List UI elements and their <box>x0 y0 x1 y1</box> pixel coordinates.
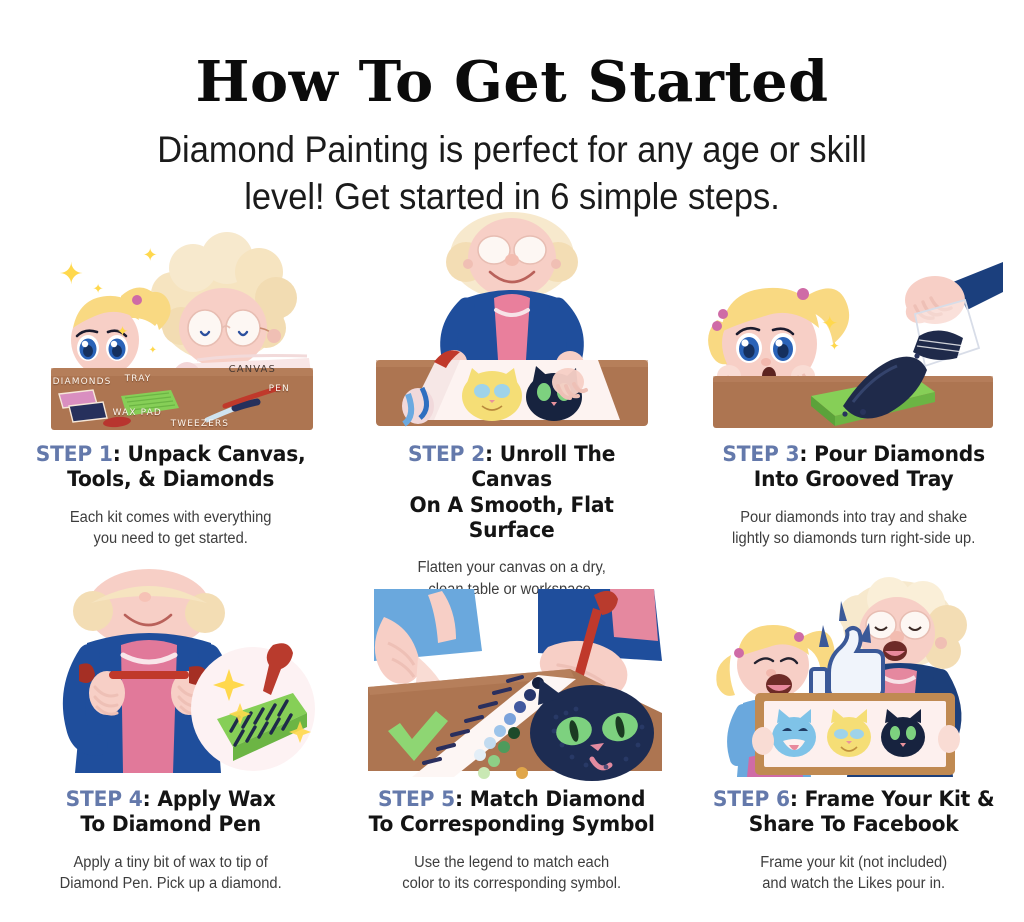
canvas-sheet <box>402 350 620 424</box>
page-subtitle: Diamond Painting is perfect for any age … <box>36 126 988 221</box>
step-2-title-rest: : Unroll The Canvas <box>472 442 616 492</box>
step-6-desc-line1: Frame your kit (not included) <box>760 854 947 871</box>
step-6-number: STEP 6 <box>713 787 790 812</box>
step-2-title-line2: On A Smooth, Flat Surface <box>410 493 614 543</box>
sparkle-icon: ✦ <box>829 340 839 352</box>
step-3-title-rest: : Pour Diamonds <box>799 442 985 467</box>
grandma-hand <box>938 725 960 753</box>
sparkle-icon: ✦ <box>59 260 84 290</box>
cat-yellow <box>462 368 522 421</box>
label-wax-pad: WAX PAD <box>113 408 162 418</box>
label-tray: TRAY <box>125 374 152 384</box>
step-1-illustration: ✦ ✦ ✦ ✦ ✦ <box>14 232 327 432</box>
step-5-desc-line2: color to its corresponding symbol. <box>362 873 663 895</box>
step-1-title-rest: : Unpack Canvas, <box>113 442 306 467</box>
left-person <box>374 589 482 693</box>
step-4-desc-line1: Apply a tiny bit of wax to tip of <box>74 854 268 871</box>
step-card-5: STEP 5: Match Diamond To Corresponding S… <box>341 577 682 922</box>
label-canvas: CANVAS <box>229 364 276 375</box>
step-2-desc-line1: Flatten your canvas on a dry, <box>418 559 606 576</box>
step-card-1: ✦ ✦ ✦ ✦ ✦ <box>0 232 341 577</box>
sparkle-icon: ✦ <box>117 324 129 338</box>
step-5-title-rest: : Match Diamond <box>455 787 645 812</box>
step-1-desc-line2: you need to get started. <box>20 528 321 550</box>
step-4-illustration <box>14 577 327 777</box>
step-4-scene <box>21 581 321 777</box>
grandma-character <box>151 232 297 368</box>
girl-hand <box>752 727 774 755</box>
step-3-description: Pour diamonds into tray and shake lightl… <box>703 507 1004 550</box>
step-2-title: STEP 2: Unroll The Canvas On A Smooth, F… <box>365 442 660 543</box>
step-5-number: STEP 5 <box>378 787 455 812</box>
subtitle-line-2: level! Get started in 6 simple steps. <box>244 176 780 217</box>
step-1-desc-line1: Each kit comes with everything <box>70 509 272 526</box>
step-4-number: STEP 4 <box>66 787 143 812</box>
infographic-page: How To Get Started Diamond Painting is p… <box>0 0 1024 922</box>
step-5-title: STEP 5: Match Diamond To Corresponding S… <box>365 787 660 838</box>
label-tweezers: TWEEZERS <box>171 419 229 429</box>
framed-painting <box>755 693 955 775</box>
shirt <box>494 294 530 360</box>
step-1-number: STEP 1 <box>36 442 113 467</box>
step-5-scene <box>362 581 662 777</box>
step-6-description: Frame your kit (not included) and watch … <box>703 852 1004 895</box>
step-6-scene <box>703 581 1003 777</box>
step-card-4: STEP 4: Apply Wax To Diamond Pen Apply a… <box>0 577 341 922</box>
step-5-desc-line1: Use the legend to match each <box>414 854 609 871</box>
step-6-title-rest: : Frame Your Kit & <box>789 787 994 812</box>
step-1-title: STEP 1: Unpack Canvas, Tools, & Diamonds <box>23 442 318 493</box>
step-4-title-rest: : Apply Wax <box>143 787 276 812</box>
page-title: How To Get Started <box>0 54 1024 110</box>
step-1-title-line2: Tools, & Diamonds <box>67 467 274 492</box>
header: How To Get Started Diamond Painting is p… <box>0 0 1024 221</box>
sparkle-icon: ✦ <box>149 346 157 356</box>
step-5-title-line2: To Corresponding Symbol <box>369 812 655 837</box>
cat-navy-canvas <box>530 679 654 781</box>
step-3-desc-line1: Pour diamonds into tray and shake <box>740 509 967 526</box>
step-card-3: ✦ ✦ <box>683 232 1024 577</box>
step-3-illustration: ✦ ✦ <box>697 232 1010 432</box>
step-2-scene <box>362 236 662 432</box>
step-4-title: STEP 4: Apply Wax To Diamond Pen <box>23 787 318 838</box>
step-6-title: STEP 6: Frame Your Kit & Share To Facebo… <box>706 787 1001 838</box>
step-6-illustration <box>697 577 1010 777</box>
step-card-2: STEP 2: Unroll The Canvas On A Smooth, F… <box>341 232 682 577</box>
step-5-illustration <box>355 577 668 777</box>
sparkle-icon: ✦ <box>93 282 104 295</box>
step-4-description: Apply a tiny bit of wax to tip of Diamon… <box>20 852 321 895</box>
step-4-desc-line2: Diamond Pen. Pick up a diamond. <box>20 873 321 895</box>
steps-grid: ✦ ✦ ✦ ✦ ✦ <box>0 232 1024 922</box>
label-diamonds: DIAMONDS <box>53 377 112 387</box>
step-6-desc-line2: and watch the Likes pour in. <box>703 873 1004 895</box>
step-5-description: Use the legend to match each color to it… <box>362 852 663 895</box>
sparkle-icon: ✦ <box>143 246 158 264</box>
step-3-title: STEP 3: Pour Diamonds Into Grooved Tray <box>706 442 1001 493</box>
step-6-title-line2: Share To Facebook <box>748 812 958 837</box>
step-4-title-line2: To Diamond Pen <box>80 812 260 837</box>
subtitle-line-1: Diamond Painting is perfect for any age … <box>157 129 867 170</box>
grandma-character <box>441 212 584 377</box>
step-card-6: STEP 6: Frame Your Kit & Share To Facebo… <box>683 577 1024 922</box>
step-2-number: STEP 2 <box>408 442 485 467</box>
sparkle-icon: ✦ <box>821 314 838 334</box>
step-3-scene <box>703 236 1003 432</box>
step-3-number: STEP 3 <box>722 442 799 467</box>
step-2-illustration <box>355 232 668 432</box>
label-pen: PEN <box>269 384 290 394</box>
step-3-title-line2: Into Grooved Tray <box>753 467 953 492</box>
step-3-desc-line2: lightly so diamonds turn right-side up. <box>703 528 1004 550</box>
girl-character <box>708 288 849 390</box>
step-1-description: Each kit comes with everything you need … <box>20 507 321 550</box>
